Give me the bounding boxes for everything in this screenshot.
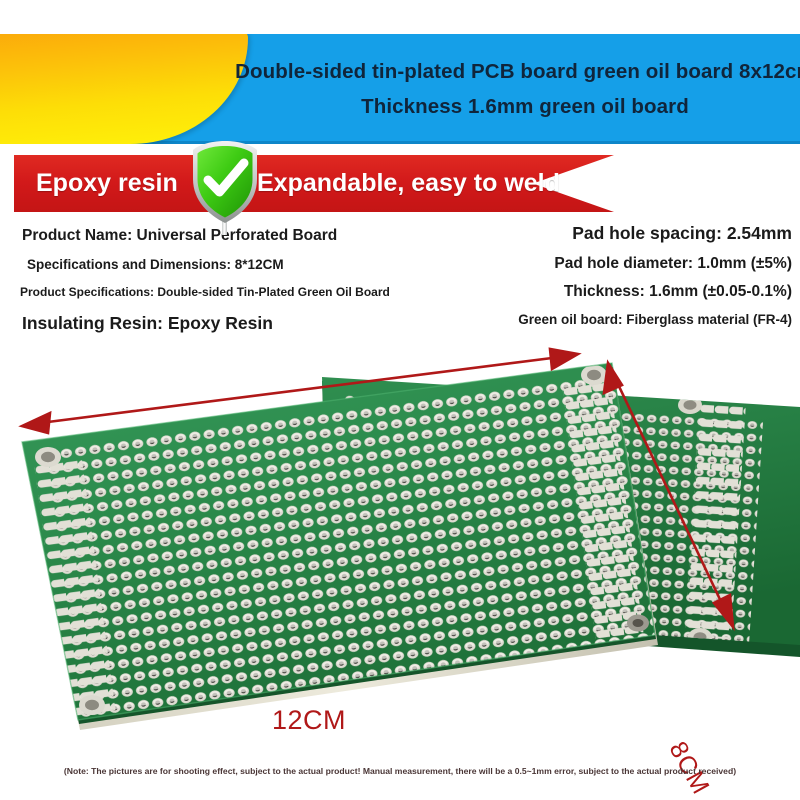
spec-insulating-resin: Insulating Resin: Epoxy Resin: [22, 315, 448, 333]
footer-disclaimer-note: (Note: The pictures are for shooting eff…: [0, 766, 800, 776]
header-accent-shape: [0, 34, 248, 144]
header-title-line-2: Thickness 1.6mm green oil board: [361, 95, 689, 119]
spec-list-left: Product Name: Universal Perforated Board…: [18, 228, 448, 333]
spec-list-right: Pad hole spacing: 2.54mm Pad hole diamet…: [470, 225, 792, 326]
spec-pad-hole-diameter: Pad hole diameter: 1.0mm (±5%): [470, 256, 792, 272]
green-shield-check-icon: [189, 139, 261, 235]
feature-ribbon: Epoxy resin Expandable, easy to weld: [14, 155, 614, 212]
spec-pad-hole-spacing: Pad hole spacing: 2.54mm: [470, 225, 792, 243]
ribbon-label-weld: Expandable, easy to weld: [257, 155, 560, 212]
header-title-line-1: Double-sided tin-plated PCB board green …: [235, 60, 800, 84]
spec-product-specification: Product Specifications: Double-sided Tin…: [20, 286, 448, 298]
product-photo-pcb-boards: 12CM 8CM: [0, 345, 800, 755]
dimension-label-width: 12CM: [272, 705, 346, 736]
spec-thickness: Thickness: 1.6mm (±0.05-0.1%): [470, 284, 792, 300]
header-banner: Double-sided tin-plated PCB board green …: [0, 34, 800, 144]
header-text-group: Double-sided tin-plated PCB board green …: [250, 34, 800, 144]
spec-fiberglass-material: Green oil board: Fiberglass material (FR…: [470, 313, 792, 327]
pcb-board-front: [22, 363, 678, 746]
spec-dimensions: Specifications and Dimensions: 8*12CM: [27, 258, 448, 272]
ribbon-label-epoxy: Epoxy resin: [36, 155, 178, 212]
